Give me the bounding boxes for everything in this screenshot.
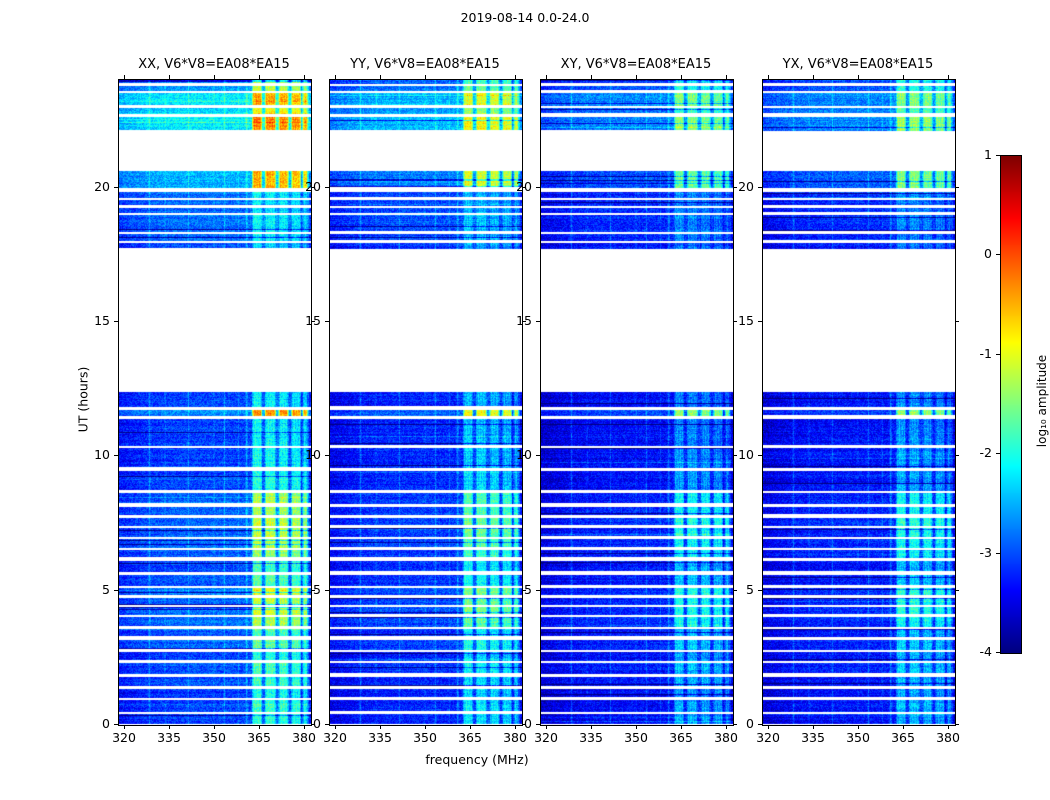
ytick-mark bbox=[758, 590, 762, 591]
ytick-mark bbox=[955, 590, 959, 591]
ytick-label-yx-0: 0 bbox=[722, 716, 754, 731]
ytick-label-yx-4: 20 bbox=[722, 179, 754, 194]
colorbar-tick-label-3: -1 bbox=[958, 346, 992, 361]
ytick-mark bbox=[114, 455, 118, 456]
colorbar-tick-mark bbox=[996, 354, 1000, 355]
ytick-mark bbox=[536, 590, 540, 591]
y-axis-label: UT (hours) bbox=[76, 339, 91, 459]
xtick-mark bbox=[214, 725, 215, 729]
colorbar-tick-mark bbox=[996, 254, 1000, 255]
xtick-mark bbox=[546, 725, 547, 729]
xtick-label-yx-4: 380 bbox=[923, 730, 973, 745]
ytick-mark bbox=[758, 321, 762, 322]
ytick-label-yx-1: 5 bbox=[722, 582, 754, 597]
xtick-mark bbox=[169, 75, 170, 79]
xtick-label-yx-2: 350 bbox=[833, 730, 883, 745]
ytick-label-yx-2: 10 bbox=[722, 447, 754, 462]
xtick-mark bbox=[813, 725, 814, 729]
colorbar-tick-label-1: -3 bbox=[958, 545, 992, 560]
waterfall-image-yy bbox=[330, 80, 522, 725]
xtick-label-yy-3: 365 bbox=[445, 730, 495, 745]
xtick-mark bbox=[681, 725, 682, 729]
xtick-label-xx-1: 335 bbox=[144, 730, 194, 745]
colorbar bbox=[1000, 155, 1022, 654]
waterfall-panel-xx bbox=[118, 79, 312, 726]
figure-suptitle: 2019-08-14 0.0-24.0 bbox=[0, 10, 1050, 25]
ytick-label-xx-4: 20 bbox=[78, 179, 110, 194]
ytick-mark bbox=[758, 455, 762, 456]
colorbar-tick-label-5: 1 bbox=[958, 147, 992, 162]
colorbar-gradient bbox=[1001, 156, 1021, 653]
panel-title-xx: XX, V6*V8=EA08*EA15 bbox=[118, 57, 310, 72]
ytick-mark bbox=[325, 187, 329, 188]
ytick-label-xy-1: 5 bbox=[500, 582, 532, 597]
ytick-mark bbox=[536, 321, 540, 322]
ytick-mark bbox=[114, 321, 118, 322]
xtick-mark bbox=[425, 725, 426, 729]
ytick-label-yx-3: 15 bbox=[722, 313, 754, 328]
ytick-mark bbox=[536, 724, 540, 725]
xtick-mark bbox=[858, 725, 859, 729]
xtick-mark bbox=[304, 75, 305, 79]
ytick-label-yy-4: 20 bbox=[289, 179, 321, 194]
colorbar-tick-label-4: 0 bbox=[958, 246, 992, 261]
ytick-mark bbox=[955, 321, 959, 322]
xtick-label-xy-1: 335 bbox=[566, 730, 616, 745]
xtick-mark bbox=[768, 75, 769, 79]
ytick-mark bbox=[955, 187, 959, 188]
xtick-label-xx-0: 320 bbox=[99, 730, 149, 745]
ytick-label-yy-1: 5 bbox=[289, 582, 321, 597]
xtick-label-yy-2: 350 bbox=[400, 730, 450, 745]
panel-title-xy: XY, V6*V8=EA08*EA15 bbox=[540, 57, 732, 72]
xtick-mark bbox=[470, 725, 471, 729]
xtick-mark bbox=[169, 725, 170, 729]
waterfall-panel-yx bbox=[762, 79, 956, 726]
colorbar-tick-label-2: -2 bbox=[958, 445, 992, 460]
ytick-mark bbox=[114, 724, 118, 725]
ytick-mark bbox=[536, 187, 540, 188]
xtick-mark bbox=[124, 725, 125, 729]
xtick-mark bbox=[380, 725, 381, 729]
colorbar-tick-mark bbox=[996, 155, 1000, 156]
xtick-mark bbox=[726, 75, 727, 79]
xtick-label-yx-0: 320 bbox=[743, 730, 793, 745]
x-axis-label: frequency (MHz) bbox=[0, 752, 954, 767]
xtick-label-yy-0: 320 bbox=[310, 730, 360, 745]
colorbar-label: log₁₀ amplitude bbox=[1035, 321, 1049, 481]
ytick-label-xy-4: 20 bbox=[500, 179, 532, 194]
xtick-mark bbox=[858, 75, 859, 79]
xtick-mark bbox=[259, 725, 260, 729]
ytick-label-yy-0: 0 bbox=[289, 716, 321, 731]
xtick-mark bbox=[214, 75, 215, 79]
xtick-mark bbox=[903, 75, 904, 79]
ytick-label-xx-3: 15 bbox=[78, 313, 110, 328]
xtick-mark bbox=[813, 75, 814, 79]
colorbar-tick-label-0: -4 bbox=[958, 644, 992, 659]
ytick-mark bbox=[325, 455, 329, 456]
colorbar-tick-mark bbox=[996, 553, 1000, 554]
waterfall-image-xy bbox=[541, 80, 733, 725]
waterfall-panel-yy bbox=[329, 79, 523, 726]
ytick-mark bbox=[536, 455, 540, 456]
ytick-mark bbox=[114, 590, 118, 591]
xtick-mark bbox=[515, 75, 516, 79]
colorbar-tick-mark bbox=[996, 652, 1000, 653]
xtick-label-xx-3: 365 bbox=[234, 730, 284, 745]
ytick-mark bbox=[325, 321, 329, 322]
xtick-mark bbox=[470, 75, 471, 79]
ytick-label-yy-3: 15 bbox=[289, 313, 321, 328]
ytick-label-xx-1: 5 bbox=[78, 582, 110, 597]
ytick-mark bbox=[758, 724, 762, 725]
xtick-mark bbox=[380, 75, 381, 79]
xtick-label-yx-3: 365 bbox=[878, 730, 928, 745]
xtick-mark bbox=[768, 725, 769, 729]
xtick-mark bbox=[591, 75, 592, 79]
ytick-mark bbox=[325, 724, 329, 725]
xtick-label-xy-3: 365 bbox=[656, 730, 706, 745]
xtick-mark bbox=[425, 75, 426, 79]
xtick-mark bbox=[335, 75, 336, 79]
ytick-label-xy-0: 0 bbox=[500, 716, 532, 731]
xtick-mark bbox=[636, 725, 637, 729]
xtick-mark bbox=[546, 75, 547, 79]
xtick-label-yy-1: 335 bbox=[355, 730, 405, 745]
xtick-mark bbox=[636, 75, 637, 79]
xtick-mark bbox=[259, 75, 260, 79]
ytick-mark bbox=[758, 187, 762, 188]
ytick-label-xy-2: 10 bbox=[500, 447, 532, 462]
xtick-mark bbox=[591, 725, 592, 729]
xtick-mark bbox=[948, 75, 949, 79]
ytick-mark bbox=[955, 724, 959, 725]
ytick-label-xy-3: 15 bbox=[500, 313, 532, 328]
ytick-label-xx-2: 10 bbox=[78, 447, 110, 462]
waterfall-image-yx bbox=[763, 80, 955, 725]
xtick-mark bbox=[681, 75, 682, 79]
xtick-mark bbox=[124, 75, 125, 79]
xtick-label-xy-0: 320 bbox=[521, 730, 571, 745]
xtick-mark bbox=[335, 725, 336, 729]
ytick-label-xx-0: 0 bbox=[78, 716, 110, 731]
panel-title-yx: YX, V6*V8=EA08*EA15 bbox=[762, 57, 954, 72]
xtick-mark bbox=[903, 725, 904, 729]
xtick-label-xx-2: 350 bbox=[189, 730, 239, 745]
colorbar-tick-mark bbox=[996, 453, 1000, 454]
ytick-mark bbox=[325, 590, 329, 591]
ytick-mark bbox=[114, 187, 118, 188]
panel-title-yy: YY, V6*V8=EA08*EA15 bbox=[329, 57, 521, 72]
xtick-mark bbox=[948, 725, 949, 729]
ytick-mark bbox=[955, 455, 959, 456]
xtick-label-xy-2: 350 bbox=[611, 730, 661, 745]
xtick-label-yx-1: 335 bbox=[788, 730, 838, 745]
waterfall-image-xx bbox=[119, 80, 311, 725]
waterfall-panel-xy bbox=[540, 79, 734, 726]
ytick-label-yy-2: 10 bbox=[289, 447, 321, 462]
